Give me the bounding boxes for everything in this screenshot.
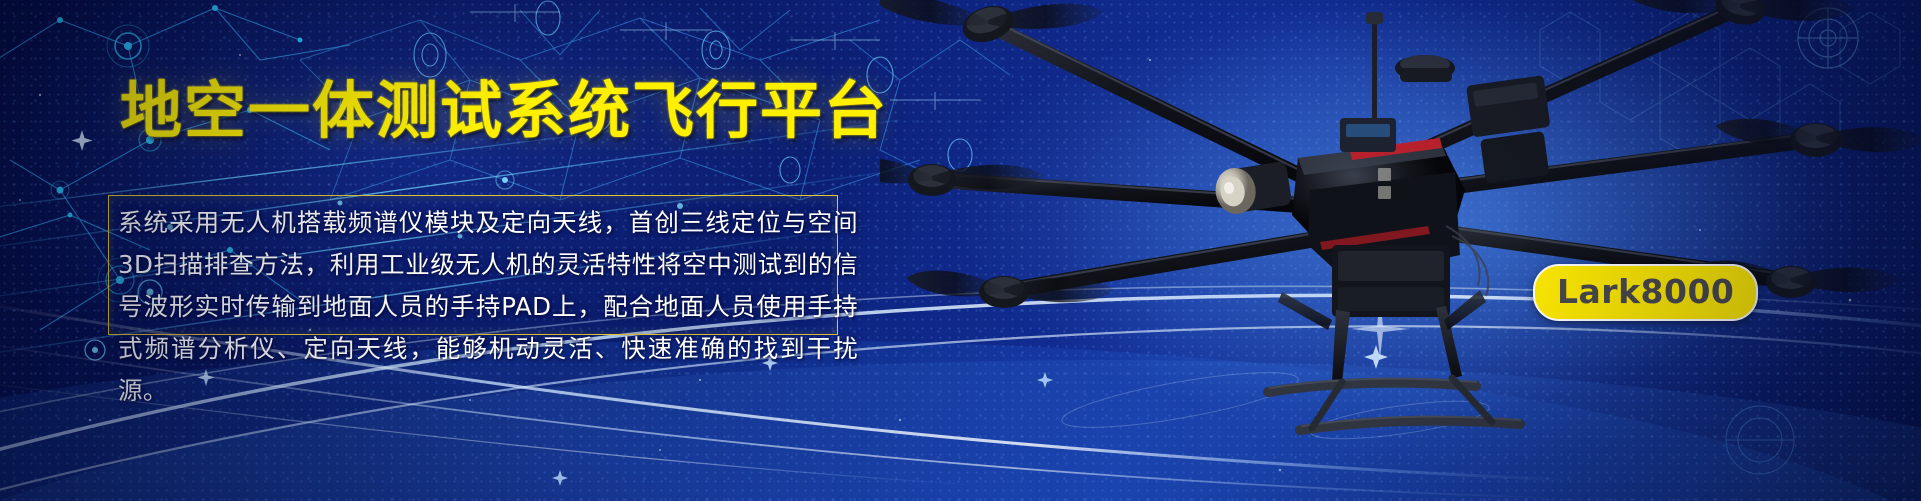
product-model-badge: Lark8000 — [1533, 264, 1758, 321]
description-text: 系统采用无人机搭载频谱仪模块及定向天线，首创三线定位与空间3D扫描排查方法，利用… — [118, 202, 858, 412]
promotional-banner: 地空一体测试系统飞行平台 系统采用无人机搭载频谱仪模块及定向天线，首创三线定位与… — [0, 0, 1921, 501]
page-title: 地空一体测试系统飞行平台 — [120, 78, 888, 145]
drone-photo-illustration — [880, 0, 1921, 450]
